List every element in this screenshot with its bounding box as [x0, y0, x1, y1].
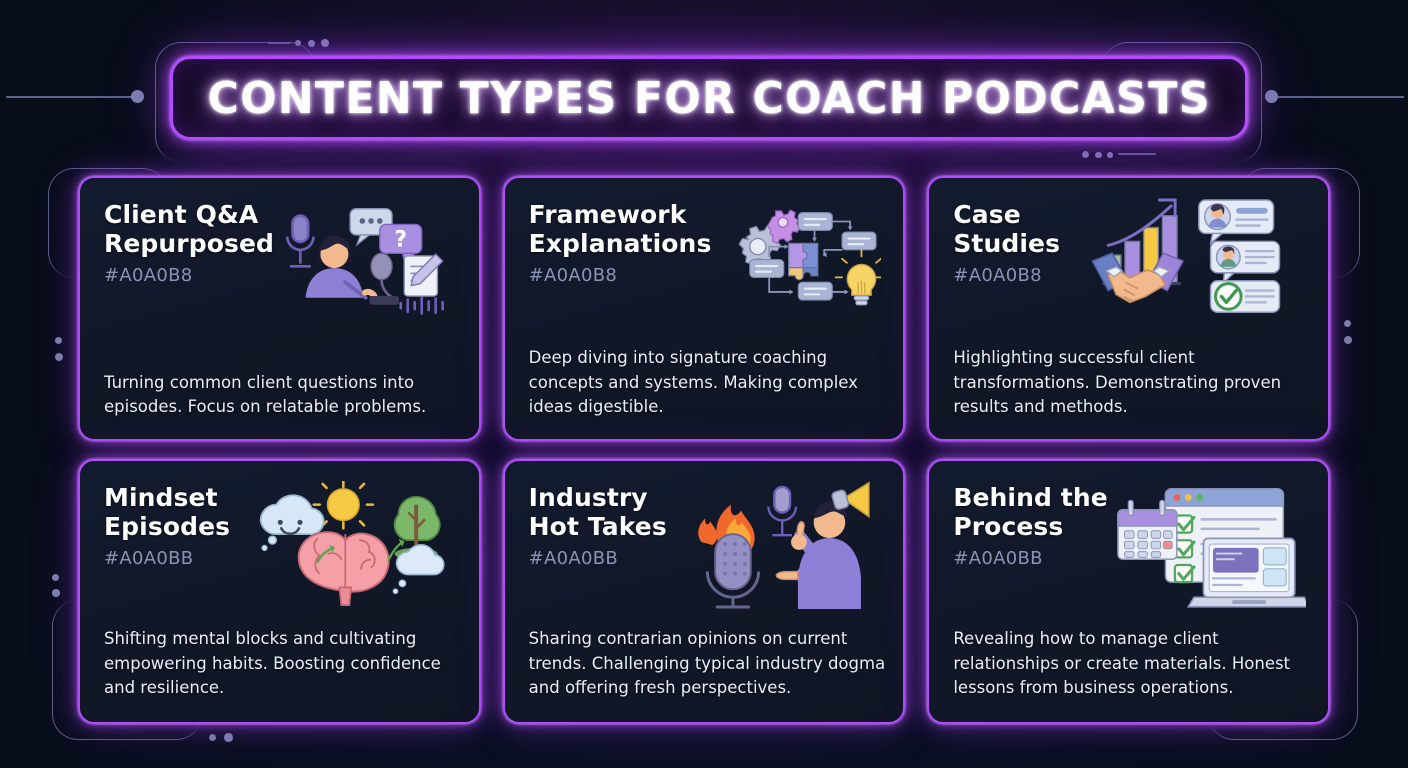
card-header: Case Studies #A0A0B8: [953, 200, 1306, 326]
frame-dot-title-a: [295, 40, 301, 46]
page-title-container: CONTENT TYPES FOR COACH PODCASTS: [170, 56, 1248, 140]
card-title: Framework Explanations: [529, 200, 712, 258]
frame-dot-bottom-b: [224, 733, 233, 742]
frame-stub-title-topleft: [268, 42, 290, 44]
card-description: Shifting mental blocks and cultivating e…: [104, 627, 461, 700]
frame-line-right: [1278, 96, 1404, 98]
frame-dot-lower-left-b: [52, 589, 60, 597]
content-card-framework-explanations[interactable]: Framework Explanations #A0A0B8: [503, 176, 906, 441]
content-card-behind-the-process[interactable]: Behind the Process #A0A0BB: [927, 459, 1330, 724]
handshake-growth-chart-icon: [1068, 198, 1306, 326]
frame-dot-right: [1265, 90, 1278, 103]
card-hex-label: #A0A0BB: [953, 548, 1107, 569]
card-heading-group: Industry Hot Takes #A0A0BB: [529, 483, 667, 569]
frame-dot-lower-left-a: [52, 574, 59, 581]
card-title: Industry Hot Takes: [529, 483, 667, 541]
card-title: Client Q&A Repurposed: [104, 200, 274, 258]
card-header: Industry Hot Takes #A0A0BB: [529, 483, 882, 609]
card-header: Client Q&A Repurposed #A0A0B8: [104, 200, 457, 326]
content-card-industry-hot-takes[interactable]: Industry Hot Takes #A0A0BB: [503, 459, 906, 724]
content-type-grid: Client Q&A Repurposed #A0A0B8: [78, 176, 1330, 724]
frame-dot-title-b: [308, 40, 315, 47]
frame-dot-grid-left-b: [55, 353, 63, 361]
flaming-microphone-megaphone-icon: [675, 481, 882, 609]
frame-dot-title-c: [321, 39, 329, 47]
card-hex-label: #A0A0BB: [529, 548, 667, 569]
card-description: Turning common client questions into epi…: [104, 371, 461, 420]
card-heading-group: Framework Explanations #A0A0B8: [529, 200, 712, 286]
flowchart-gears-puzzle-icon: [719, 198, 881, 326]
podcast-interview-icon: ?: [282, 198, 457, 326]
card-heading-group: Client Q&A Repurposed #A0A0B8: [104, 200, 274, 286]
calendar-checklist-laptop-icon: [1116, 481, 1306, 609]
card-heading-group: Case Studies #A0A0B8: [953, 200, 1060, 286]
card-header: Framework Explanations #A0A0B8: [529, 200, 882, 326]
frame-line-left: [6, 96, 138, 98]
page-title: CONTENT TYPES FOR COACH PODCASTS: [207, 73, 1210, 124]
frame-dot-title-f: [1107, 152, 1113, 158]
card-hex-label: #A0A0B8: [104, 265, 274, 286]
content-card-mindset-episodes[interactable]: Mindset Episodes #A0A0BB: [78, 459, 481, 724]
card-description: Sharing contrarian opinions on current t…: [529, 627, 886, 700]
frame-dot-grid-right-b: [1344, 336, 1352, 344]
card-description: Highlighting successful client transform…: [953, 346, 1310, 419]
card-heading-group: Mindset Episodes #A0A0BB: [104, 483, 230, 569]
card-header: Mindset Episodes #A0A0BB: [104, 483, 457, 609]
content-card-case-studies[interactable]: Case Studies #A0A0B8: [927, 176, 1330, 441]
frame-dot-title-d: [1082, 151, 1089, 158]
svg-text:?: ?: [394, 227, 407, 252]
card-hex-label: #A0A0B8: [953, 265, 1060, 286]
card-heading-group: Behind the Process #A0A0BB: [953, 483, 1107, 569]
frame-dot-grid-left-a: [55, 337, 62, 344]
frame-dot-grid-right-a: [1344, 320, 1351, 327]
content-card-client-qa[interactable]: Client Q&A Repurposed #A0A0B8: [78, 176, 481, 441]
card-title: Case Studies: [953, 200, 1060, 258]
page-title-box: CONTENT TYPES FOR COACH PODCASTS: [170, 56, 1248, 140]
card-header: Behind the Process #A0A0BB: [953, 483, 1306, 609]
frame-stub-title-bottomright: [1118, 153, 1156, 155]
card-title: Behind the Process: [953, 483, 1107, 541]
card-hex-label: #A0A0B8: [529, 265, 712, 286]
brain-sun-tree-icon: [238, 481, 457, 609]
frame-dot-bottom-a: [209, 734, 216, 741]
card-description: Revealing how to manage client relations…: [953, 627, 1310, 700]
frame-dot-title-e: [1095, 152, 1102, 159]
card-hex-label: #A0A0BB: [104, 548, 230, 569]
card-description: Deep diving into signature coaching conc…: [529, 346, 886, 419]
card-title: Mindset Episodes: [104, 483, 230, 541]
frame-dot-left: [131, 90, 144, 103]
